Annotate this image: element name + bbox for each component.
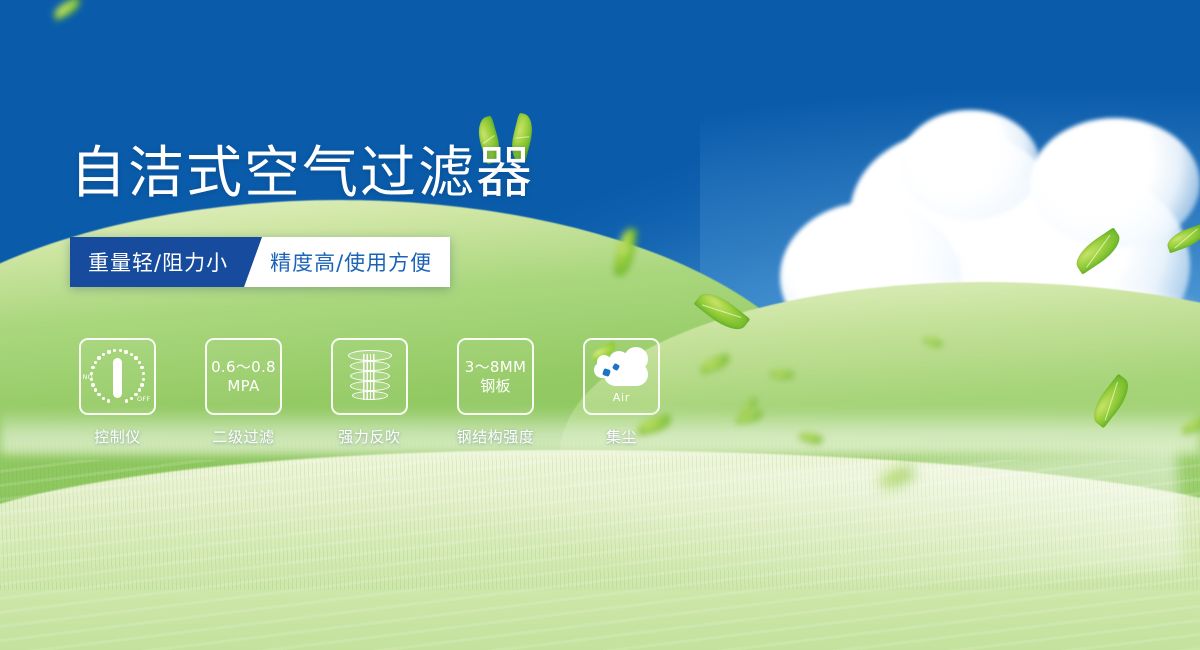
feature-item-blowback[interactable]: 强力反吹	[328, 338, 411, 447]
dial-label-no: NO	[83, 373, 94, 381]
pressure-text-icon: 0.6～0.8 MPA	[205, 338, 282, 415]
tag-precision-ease: 精度高/使用方便	[244, 237, 450, 287]
feature-icon-row: NO OFF 控制仪 0.6～0.8 MPA 二级过滤	[76, 338, 663, 447]
feature-item-filtration[interactable]: 0.6～0.8 MPA 二级过滤	[202, 338, 285, 447]
feature-label: 控制仪	[94, 426, 141, 447]
pressure-value: 0.6～0.8	[211, 358, 276, 376]
steel-text-icon: 3～8MM 钢板	[457, 338, 534, 415]
pressure-unit: MPA	[227, 377, 259, 395]
cloud-notch	[602, 368, 611, 377]
feature-label: 钢结构强度	[456, 426, 534, 447]
cloud-graphic	[594, 350, 650, 390]
page-title: 自洁式空气过滤器	[70, 146, 534, 202]
dial-graphic: NO OFF	[87, 346, 149, 408]
feature-label: 二级过滤	[212, 426, 274, 447]
feature-label: 强力反吹	[338, 426, 400, 447]
control-dial-icon: NO OFF	[79, 338, 156, 415]
feature-tag-bar: 重量轻/阻力小 精度高/使用方便	[70, 237, 450, 287]
feature-label: 集尘	[606, 426, 637, 447]
feature-item-steel[interactable]: 3～8MM 钢板 钢结构强度	[454, 338, 537, 447]
steel-material: 钢板	[480, 377, 511, 395]
air-cloud-icon: Air	[583, 338, 660, 415]
feature-item-control[interactable]: NO OFF 控制仪	[76, 338, 159, 447]
tag-weight-resistance: 重量轻/阻力小	[70, 237, 262, 287]
coil-graphic	[346, 348, 394, 406]
coil-filter-icon	[331, 338, 408, 415]
product-banner: 自洁式空气过滤器 重量轻/阻力小 精度高/使用方便 NO OFF 控制仪 0.6…	[0, 0, 1200, 650]
steel-thickness: 3～8MM	[465, 358, 526, 376]
dial-label-off: OFF	[137, 395, 151, 403]
dial-pointer	[113, 358, 122, 398]
air-label: Air	[613, 391, 631, 404]
